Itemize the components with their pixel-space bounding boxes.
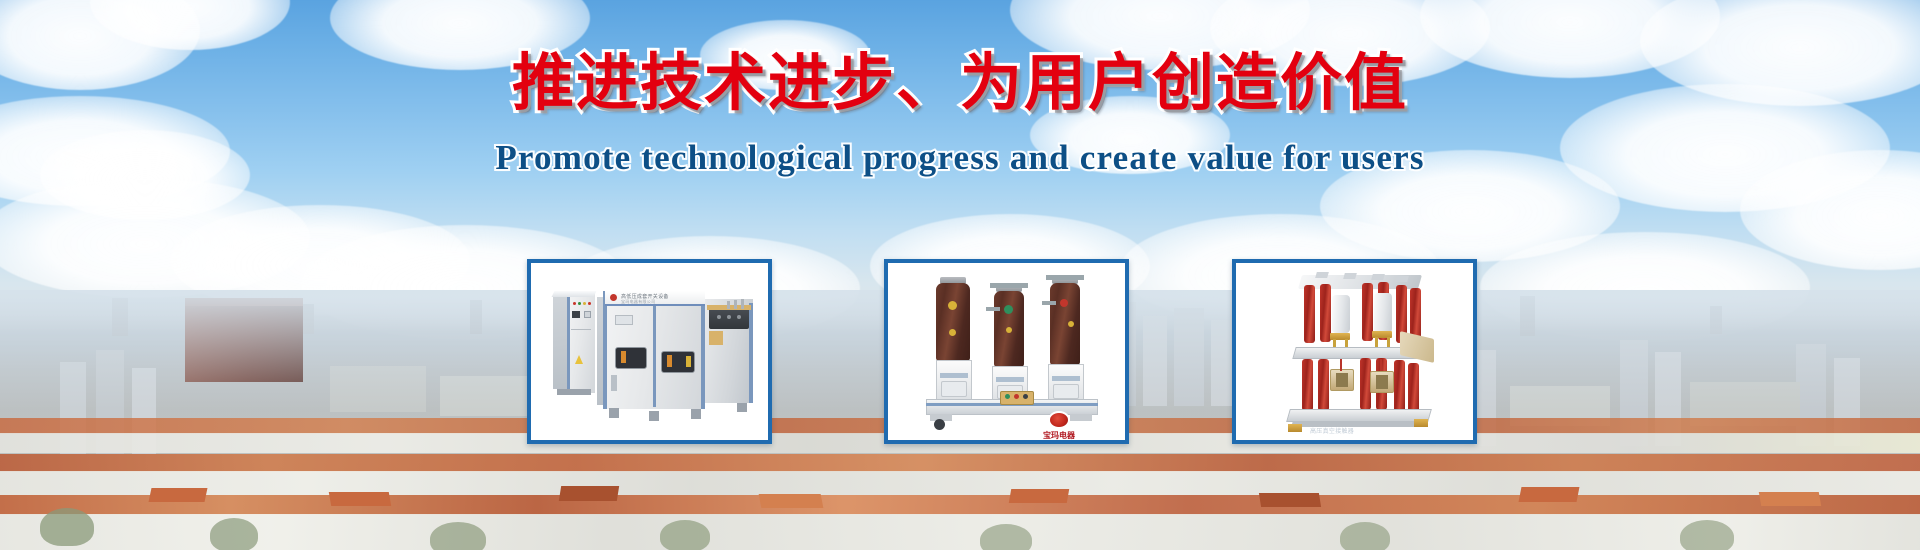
tree <box>660 520 710 550</box>
terminal-lug <box>1343 273 1357 279</box>
cabinet-foot <box>737 403 747 412</box>
house-gable <box>1519 487 1580 502</box>
cabinet-post <box>603 291 607 409</box>
pillar-meter <box>572 311 580 318</box>
pole-support <box>1042 301 1056 305</box>
insulator-rod <box>1394 360 1405 412</box>
insulator-rod <box>1318 359 1329 411</box>
chassis-foot <box>1070 414 1092 421</box>
product-panel-2[interactable]: 宝玛电器 BAO MA DIAN QI <box>884 259 1129 444</box>
duct-fin <box>727 301 730 309</box>
house-gable <box>559 486 619 501</box>
brand-mark <box>610 294 617 301</box>
vacuum-interrupter <box>1374 293 1392 333</box>
indicator-lamp <box>583 302 586 305</box>
contactor-caption: 高压真空接触器 <box>1310 426 1354 435</box>
mounting-bracket <box>1414 419 1428 427</box>
pole-support <box>986 307 1000 311</box>
pole-badge <box>1068 321 1074 327</box>
window-lever <box>621 351 626 363</box>
product-image-switchgear-cabinet: 高低压成套开关设备 宝玛电器有限公司 <box>531 263 768 440</box>
promotional-banner: 推进技术进步、为用户创造价值 Promote technological pro… <box>0 0 1920 550</box>
breaker-pole <box>1050 283 1080 365</box>
cabinet-window <box>615 347 647 369</box>
pole-badge <box>1004 305 1013 314</box>
terminal-led <box>1005 394 1010 399</box>
window-lever <box>686 356 691 367</box>
terminal-lug <box>1395 276 1409 282</box>
page-subtitle: Promote technological progress and creat… <box>0 138 1920 178</box>
tree <box>1680 520 1734 550</box>
pillar-foot <box>557 389 591 395</box>
coil-core <box>1336 373 1348 387</box>
pole-badge <box>1060 299 1068 307</box>
house-row <box>0 471 1920 495</box>
company-logo-icon <box>1048 411 1070 429</box>
cabinet-vent <box>611 375 617 391</box>
terminal-lug <box>1371 274 1385 280</box>
base-label <box>940 373 968 378</box>
cabinet-nameplate <box>615 315 633 325</box>
base-label <box>1052 376 1080 381</box>
tree <box>40 508 94 546</box>
house-gable <box>329 492 391 506</box>
terminal-lug <box>1315 272 1329 278</box>
pole-bracket <box>1046 275 1084 280</box>
cabinet-caption-sub: 宝玛电器有限公司 <box>621 299 655 305</box>
tree <box>210 518 258 550</box>
cabinet-foot <box>649 411 659 421</box>
product-panel-3[interactable]: 高压真空接触器 <box>1232 259 1477 444</box>
cabinet-post <box>653 293 656 407</box>
push-rod <box>1380 359 1382 371</box>
house-gable <box>1009 489 1069 503</box>
duct-bolt <box>737 315 741 319</box>
terminal-led <box>1023 394 1028 399</box>
indicator-lamp <box>573 302 576 305</box>
house-gable <box>759 494 824 508</box>
house-gable <box>1259 493 1321 507</box>
chassis-wheel <box>934 419 945 430</box>
house-gable <box>149 488 208 502</box>
insulator-rod <box>1302 359 1313 411</box>
tree <box>980 524 1032 550</box>
duct-fin <box>741 299 744 309</box>
indicator-lamp <box>578 302 581 305</box>
control-pillar-face <box>569 293 595 393</box>
insulator-rod <box>1304 285 1315 343</box>
pole-bracket <box>990 283 1028 288</box>
coil-core <box>1376 375 1388 389</box>
company-logo-text: 宝玛电器 <box>1043 430 1075 440</box>
vacuum-interrupter <box>1332 295 1350 333</box>
house-gable <box>1759 492 1821 506</box>
duct-bolt <box>727 315 731 319</box>
product-image-vacuum-breaker: 宝玛电器 BAO MA DIAN QI <box>888 263 1125 440</box>
breaker-pole <box>936 283 970 361</box>
product-image-hv-contactor: 高压真空接触器 <box>1236 263 1473 440</box>
pole-badge <box>949 329 956 336</box>
tree <box>1340 522 1390 550</box>
terminal-led <box>1014 394 1019 399</box>
product-panel-1[interactable]: 高低压成套开关设备 宝玛电器有限公司 <box>527 259 772 444</box>
contact-leg <box>1375 337 1378 347</box>
duct-bolt <box>717 315 721 319</box>
pillar-switch <box>584 311 591 318</box>
insulator-rod <box>1408 363 1419 413</box>
duct-fin <box>734 300 737 309</box>
product-panel-group: 高低压成套开关设备 宝玛电器有限公司 <box>0 259 1920 444</box>
extension-yellow-strip <box>709 331 723 345</box>
rooftops <box>0 495 1920 515</box>
rooftops <box>0 454 1920 472</box>
base-window <box>1053 384 1079 399</box>
cabinet-foot <box>609 408 619 418</box>
tree <box>430 522 486 550</box>
push-rod <box>1340 359 1342 371</box>
mounting-bracket <box>1288 424 1302 432</box>
base-label <box>996 377 1024 382</box>
pillar-edge <box>567 293 570 393</box>
cabinet-foot <box>691 409 701 419</box>
pillar-panel-line <box>571 329 591 330</box>
house-row <box>0 514 1920 550</box>
indicator-lamp <box>588 302 591 305</box>
pillar-top <box>552 291 597 297</box>
extension-post <box>749 303 753 403</box>
pole-badge <box>1006 327 1012 333</box>
base-window <box>941 381 967 397</box>
contact-leg <box>1387 337 1390 347</box>
window-lever <box>667 355 672 367</box>
pole-badge <box>948 301 957 310</box>
page-title: 推进技术进步、为用户创造价值 <box>0 52 1920 114</box>
